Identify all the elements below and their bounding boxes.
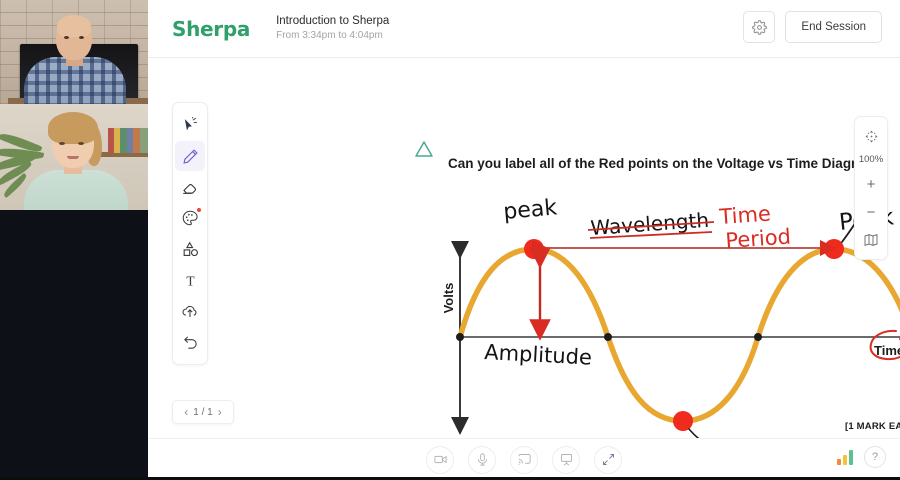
- pen-icon: [182, 148, 199, 165]
- page-prev-button[interactable]: ‹: [184, 405, 188, 419]
- red-point-peak-left[interactable]: [524, 239, 544, 259]
- signal-bars-icon: [837, 450, 853, 465]
- tool-undo[interactable]: [175, 327, 205, 357]
- annotation-peak-left: peak: [502, 195, 558, 225]
- tutor-scalp: [57, 15, 91, 37]
- sherpa-logo: Sherpa: [172, 17, 250, 41]
- student-hair: [48, 112, 98, 144]
- help-button[interactable]: ?: [864, 446, 886, 468]
- laser-pointer-icon: [182, 117, 199, 134]
- pan-move-icon: [864, 129, 879, 144]
- pan-button[interactable]: [857, 123, 885, 149]
- end-session-button[interactable]: End Session: [785, 11, 882, 43]
- trough-leader-line: [689, 429, 705, 438]
- whiteboard-canvas[interactable]: Can you label all of the Red points on t…: [148, 58, 900, 438]
- upload-cloud-icon: [181, 302, 199, 320]
- x-axis-label: Time: [874, 343, 900, 358]
- tool-text[interactable]: T: [175, 265, 205, 295]
- palette-color-badge: [196, 207, 202, 213]
- call-controls-bar: ?: [148, 438, 900, 480]
- microphone-icon: [475, 452, 490, 467]
- app-header: Sherpa Introduction to Sherpa From 3:34p…: [148, 0, 900, 58]
- zoom-level: 100%: [859, 151, 883, 169]
- tool-pen[interactable]: [175, 141, 205, 171]
- eraser-icon: [181, 178, 199, 196]
- student-books: [108, 128, 148, 153]
- zoom-toolbar: 100% + −: [854, 116, 888, 260]
- expand-arrows-icon: [601, 452, 616, 467]
- annotation-amplitude: Amplitude: [484, 340, 593, 370]
- sherpa-tutoring-app: Sherpa Introduction to Sherpa From 3:34p…: [0, 0, 900, 480]
- fullscreen-button[interactable]: [594, 446, 622, 474]
- page-next-button[interactable]: ›: [218, 405, 222, 419]
- map-book-icon: [863, 232, 879, 248]
- tutor-eye-right: [79, 36, 84, 39]
- page-navigator[interactable]: ‹ 1 / 1 ›: [172, 400, 234, 424]
- cast-screen-icon: [517, 452, 532, 467]
- zero-crossing-2: [754, 333, 762, 341]
- red-point-peak-right[interactable]: [824, 239, 844, 259]
- tool-eraser[interactable]: [175, 172, 205, 202]
- tool-laser-pointer[interactable]: [175, 110, 205, 140]
- camera-button[interactable]: [426, 446, 454, 474]
- main-pane: Sherpa Introduction to Sherpa From 3:34p…: [148, 0, 900, 480]
- whiteboard-icon: [559, 452, 574, 467]
- minimap-button[interactable]: [857, 227, 885, 253]
- drawing-toolbar: T: [172, 102, 208, 365]
- microphone-button[interactable]: [468, 446, 496, 474]
- shapes-icon: [181, 240, 200, 259]
- video-rail: [0, 0, 148, 480]
- zero-crossing-1: [604, 333, 612, 341]
- page-indicator: 1 / 1: [193, 407, 212, 418]
- whiteboard-button[interactable]: [552, 446, 580, 474]
- meeting-title: Introduction to Sherpa: [276, 14, 389, 28]
- meeting-info: Introduction to Sherpa From 3:34pm to 4:…: [276, 14, 389, 43]
- header-actions: End Session: [743, 11, 882, 43]
- tool-shapes[interactable]: [175, 234, 205, 264]
- gear-icon: [752, 20, 767, 35]
- annotation-time-period-line2: Period: [725, 224, 792, 253]
- text-icon: T: [182, 272, 199, 289]
- annotation-time-period-line1: Time: [718, 201, 772, 229]
- student-video-tile[interactable]: [0, 104, 148, 210]
- undo-icon: [182, 334, 199, 351]
- marks-note: [1 MARK EACH]: [845, 421, 900, 432]
- zero-crossing-origin: [456, 333, 464, 341]
- zoom-in-button[interactable]: +: [857, 171, 885, 197]
- sine-wave: [460, 249, 900, 421]
- red-point-trough[interactable]: [673, 411, 693, 431]
- y-axis-label: Volts: [441, 283, 456, 314]
- svg-text:T: T: [186, 273, 194, 288]
- meeting-time: From 3:34pm to 4:04pm: [276, 30, 389, 43]
- tutor-video-tile[interactable]: [0, 0, 148, 104]
- zoom-out-button[interactable]: −: [857, 199, 885, 225]
- student-mouth: [67, 156, 79, 159]
- tool-color-palette[interactable]: [175, 203, 205, 233]
- voltage-time-diagram: Volts Time peak Wavelength Time Period P…: [148, 58, 900, 438]
- student-eye-right: [78, 142, 84, 145]
- status-cluster: ?: [837, 446, 886, 468]
- screen-share-button[interactable]: [510, 446, 538, 474]
- video-camera-icon: [433, 452, 448, 467]
- tool-upload[interactable]: [175, 296, 205, 326]
- settings-button[interactable]: [743, 11, 775, 43]
- student-torso: [24, 170, 128, 210]
- student-eye-left: [59, 142, 65, 145]
- tutor-eye-left: [64, 36, 69, 39]
